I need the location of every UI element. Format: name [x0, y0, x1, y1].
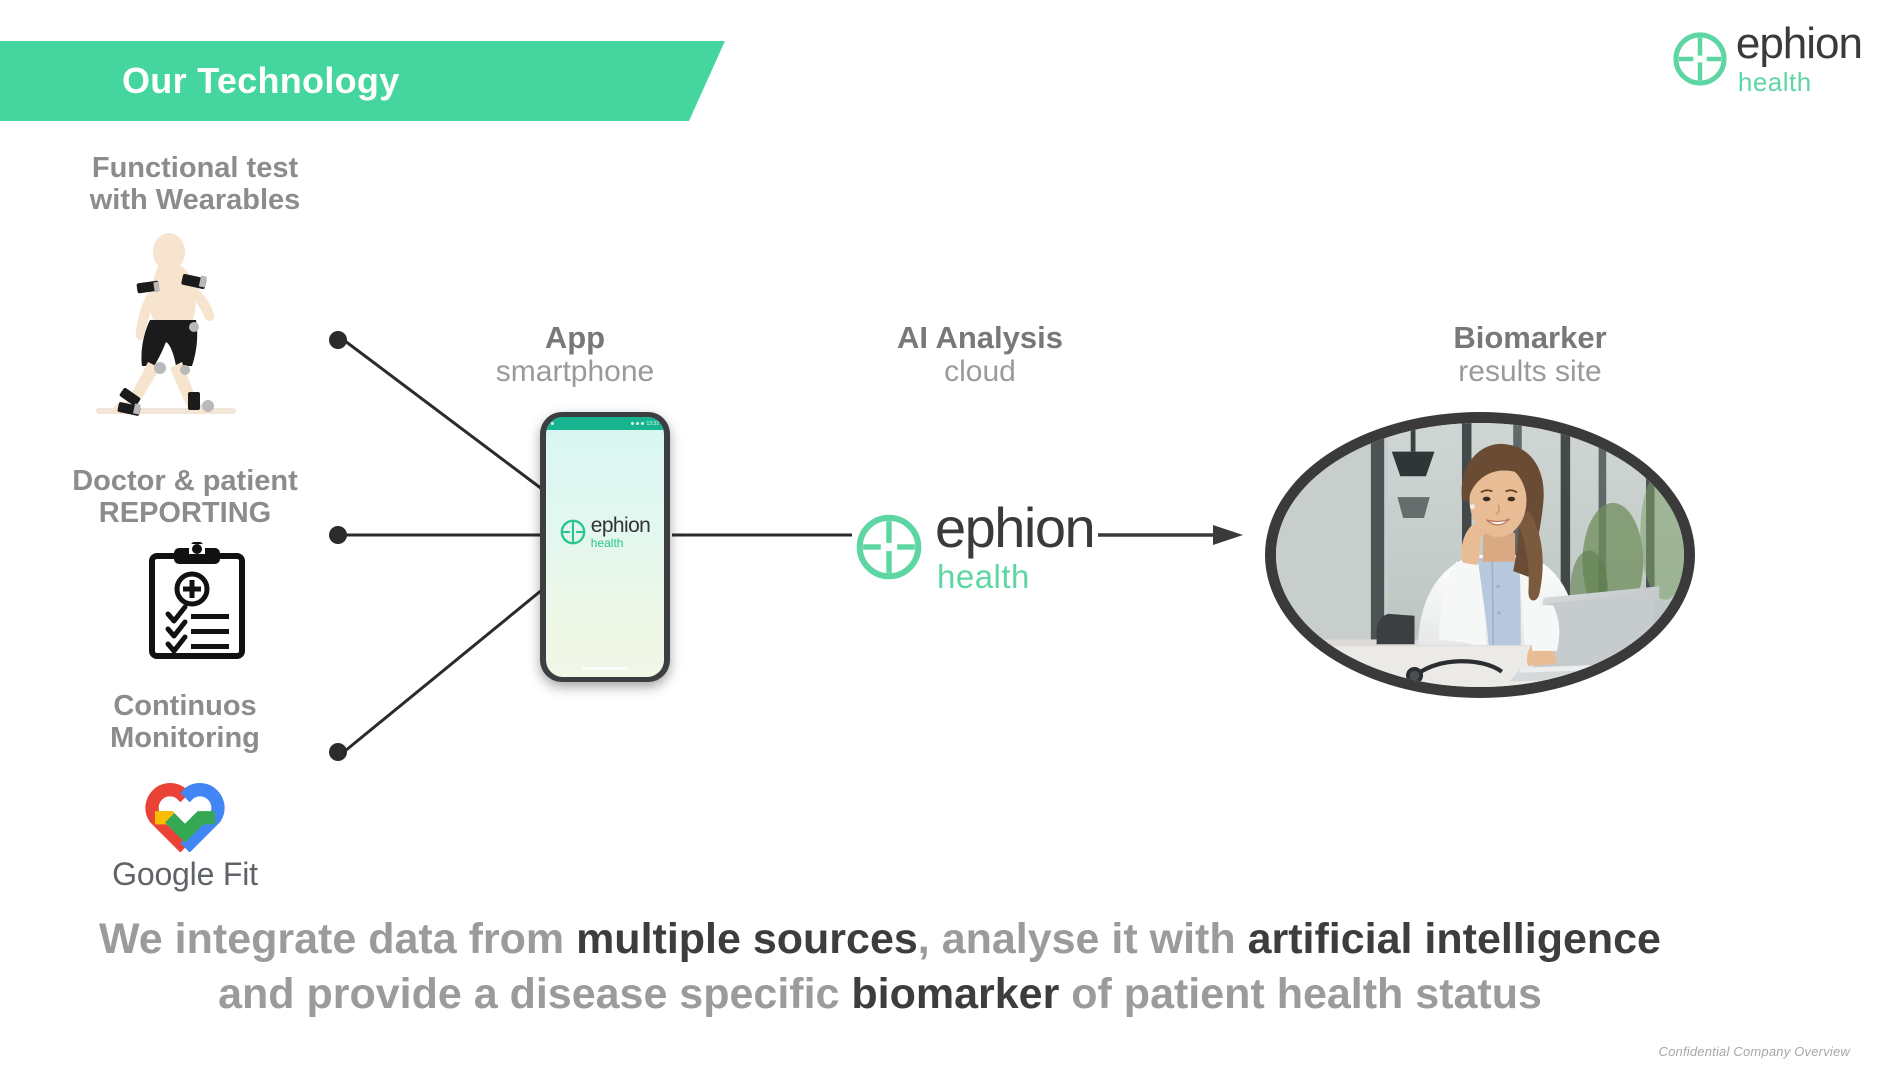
home-indicator-bar [582, 667, 628, 670]
smartphone-mockup: 13:32 ephion health [540, 412, 670, 682]
phone-status-bar: 13:32 [546, 417, 664, 430]
statement-text: and provide a disease specific [218, 970, 851, 1018]
app-splash-logo: ephion health [546, 515, 664, 549]
wifi-icon [631, 422, 634, 425]
summary-line-1: We integrate data from multiple sources,… [0, 912, 1760, 967]
phone-screen: 13:32 ephion health [546, 417, 664, 677]
google-fit-heart-icon [143, 778, 227, 852]
confidentiality-footer: Confidential Company Overview [1659, 1044, 1851, 1059]
battery-icon [641, 422, 644, 425]
google-fit-logo: Google Fit [100, 778, 270, 893]
stage-label-app: App smartphone [455, 320, 695, 390]
statement-text: We integrate data from [99, 915, 576, 963]
statement-emphasis: multiple sources [576, 915, 918, 963]
notification-dot-icon [551, 422, 554, 425]
stage-title-biomarker: Biomarker [1330, 320, 1730, 355]
app-brand-tagline: health [591, 537, 650, 549]
stage-label-ai: AI Analysis cloud [810, 320, 1150, 390]
slide-title-banner: Our Technology [0, 41, 725, 121]
app-brand-name: ephion [591, 515, 650, 536]
ephion-circle-h-icon [855, 513, 923, 581]
signal-icon [636, 422, 639, 425]
brand-tagline: health [937, 560, 1094, 593]
summary-statement: We integrate data from multiple sources,… [0, 912, 1760, 1022]
statement-text: of patient health status [1059, 970, 1542, 1018]
source-label-reporting: Doctor & patient REPORTING [10, 465, 360, 530]
statement-text: , analyse it with [918, 915, 1248, 963]
brand-tagline: health [1738, 69, 1862, 95]
stage-subtitle-app: smartphone [455, 355, 695, 389]
ephion-circle-h-icon [560, 519, 586, 545]
statement-emphasis: artificial intelligence [1248, 915, 1661, 963]
statement-emphasis: biomarker [851, 970, 1059, 1018]
summary-line-2: and provide a disease specific biomarker… [0, 967, 1760, 1022]
source-label-wearables: Functional test with Wearables [20, 152, 370, 217]
google-fit-label: Google Fit [100, 856, 270, 893]
stage-subtitle-ai: cloud [810, 355, 1150, 389]
stage-title-app: App [455, 320, 695, 355]
brand-logo-ai-analysis: ephion health [855, 500, 1094, 593]
stage-label-biomarker: Biomarker results site [1330, 320, 1730, 390]
brand-logo-topright: ephion health [1672, 22, 1862, 95]
brand-wordmark: ephion health [935, 500, 1094, 593]
status-indicators: 13:32 [631, 421, 659, 427]
brand-name: ephion [935, 500, 1094, 556]
source-label-monitoring: Continuos Monitoring [10, 690, 360, 755]
app-wordmark: ephion health [591, 515, 650, 549]
brand-name: ephion [1736, 22, 1862, 66]
stage-subtitle-biomarker: results site [1330, 355, 1730, 389]
clipboard-checklist-icon [142, 542, 252, 660]
doctor-at-laptop-photo [1265, 412, 1695, 698]
stage-title-ai: AI Analysis [810, 320, 1150, 355]
brand-wordmark: ephion health [1736, 22, 1862, 95]
ephion-circle-h-icon [1672, 31, 1728, 87]
status-time: 13:32 [646, 421, 659, 427]
walking-person-with-sensors-icon [96, 232, 244, 422]
page-title: Our Technology [122, 60, 400, 102]
